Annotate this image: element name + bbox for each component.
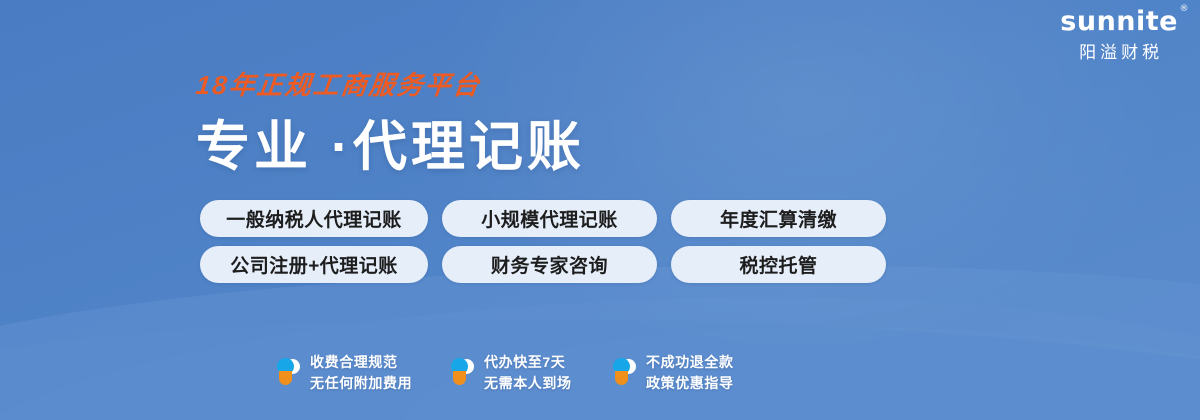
dual-circle-icon (276, 356, 302, 390)
logo-wordmark-text: sunnite (1060, 6, 1178, 37)
feature-item-pricing: 收费合理规范 无任何附加费用 (276, 352, 428, 394)
promo-banner: sunnite ® 阳溢财税 18年正规工商服务平台 专业 ·代理记账 一般纳税… (0, 0, 1200, 420)
feature-text-pricing: 收费合理规范 无任何附加费用 (310, 352, 428, 394)
service-pill-finance-consulting[interactable]: 财务专家咨询 (442, 246, 657, 283)
headline-block: 18年正规工商服务平台 专业 ·代理记账 (196, 72, 585, 176)
tagline-text: 18年正规工商服务平台 (195, 72, 587, 98)
logo-wordmark: sunnite ® (1060, 8, 1178, 35)
service-pill-annual-settlement[interactable]: 年度汇算清缴 (671, 200, 886, 237)
half-circle-orange-icon (279, 371, 292, 385)
feature-line-2: 无任何附加费用 (310, 373, 428, 394)
logo-chinese-name: 阳溢财税 (1060, 44, 1178, 61)
half-circle-orange-icon (453, 371, 466, 385)
background-wave-highlight (0, 271, 1200, 420)
feature-item-speed: 代办快至7天 无需本人到场 (450, 352, 590, 394)
dual-circle-icon (612, 356, 638, 390)
feature-line-1: 不成功退全款 (646, 352, 756, 373)
page-title: 专业 ·代理记账 (196, 118, 585, 176)
service-pill-row-1: 一般纳税人代理记账 小规模代理记账 年度汇算清缴 (200, 200, 886, 237)
feature-list: 收费合理规范 无任何附加费用 代办快至7天 无需本人到场 不成功退全款 (276, 352, 756, 394)
service-pill-row-2: 公司注册+代理记账 财务专家咨询 税控托管 (200, 246, 886, 283)
dual-circle-icon (450, 356, 476, 390)
registered-trademark-icon: ® (1180, 5, 1190, 14)
service-pill-company-registration[interactable]: 公司注册+代理记账 (200, 246, 428, 283)
feature-line-1: 收费合理规范 (310, 352, 428, 373)
service-pill-tax-control-hosting[interactable]: 税控托管 (671, 246, 886, 283)
feature-line-2: 无需本人到场 (484, 373, 590, 394)
feature-text-speed: 代办快至7天 无需本人到场 (484, 352, 590, 394)
feature-line-2: 政策优惠指导 (646, 373, 756, 394)
feature-item-guarantee: 不成功退全款 政策优惠指导 (612, 352, 756, 394)
brand-logo[interactable]: sunnite ® 阳溢财税 (1060, 8, 1178, 61)
half-circle-orange-icon (615, 371, 628, 385)
service-pill-small-scale[interactable]: 小规模代理记账 (442, 200, 657, 237)
service-pill-grid: 一般纳税人代理记账 小规模代理记账 年度汇算清缴 公司注册+代理记账 财务专家咨… (200, 200, 886, 283)
feature-line-1: 代办快至7天 (484, 352, 590, 373)
service-pill-general-taxpayer[interactable]: 一般纳税人代理记账 (200, 200, 428, 237)
feature-text-guarantee: 不成功退全款 政策优惠指导 (646, 352, 756, 394)
